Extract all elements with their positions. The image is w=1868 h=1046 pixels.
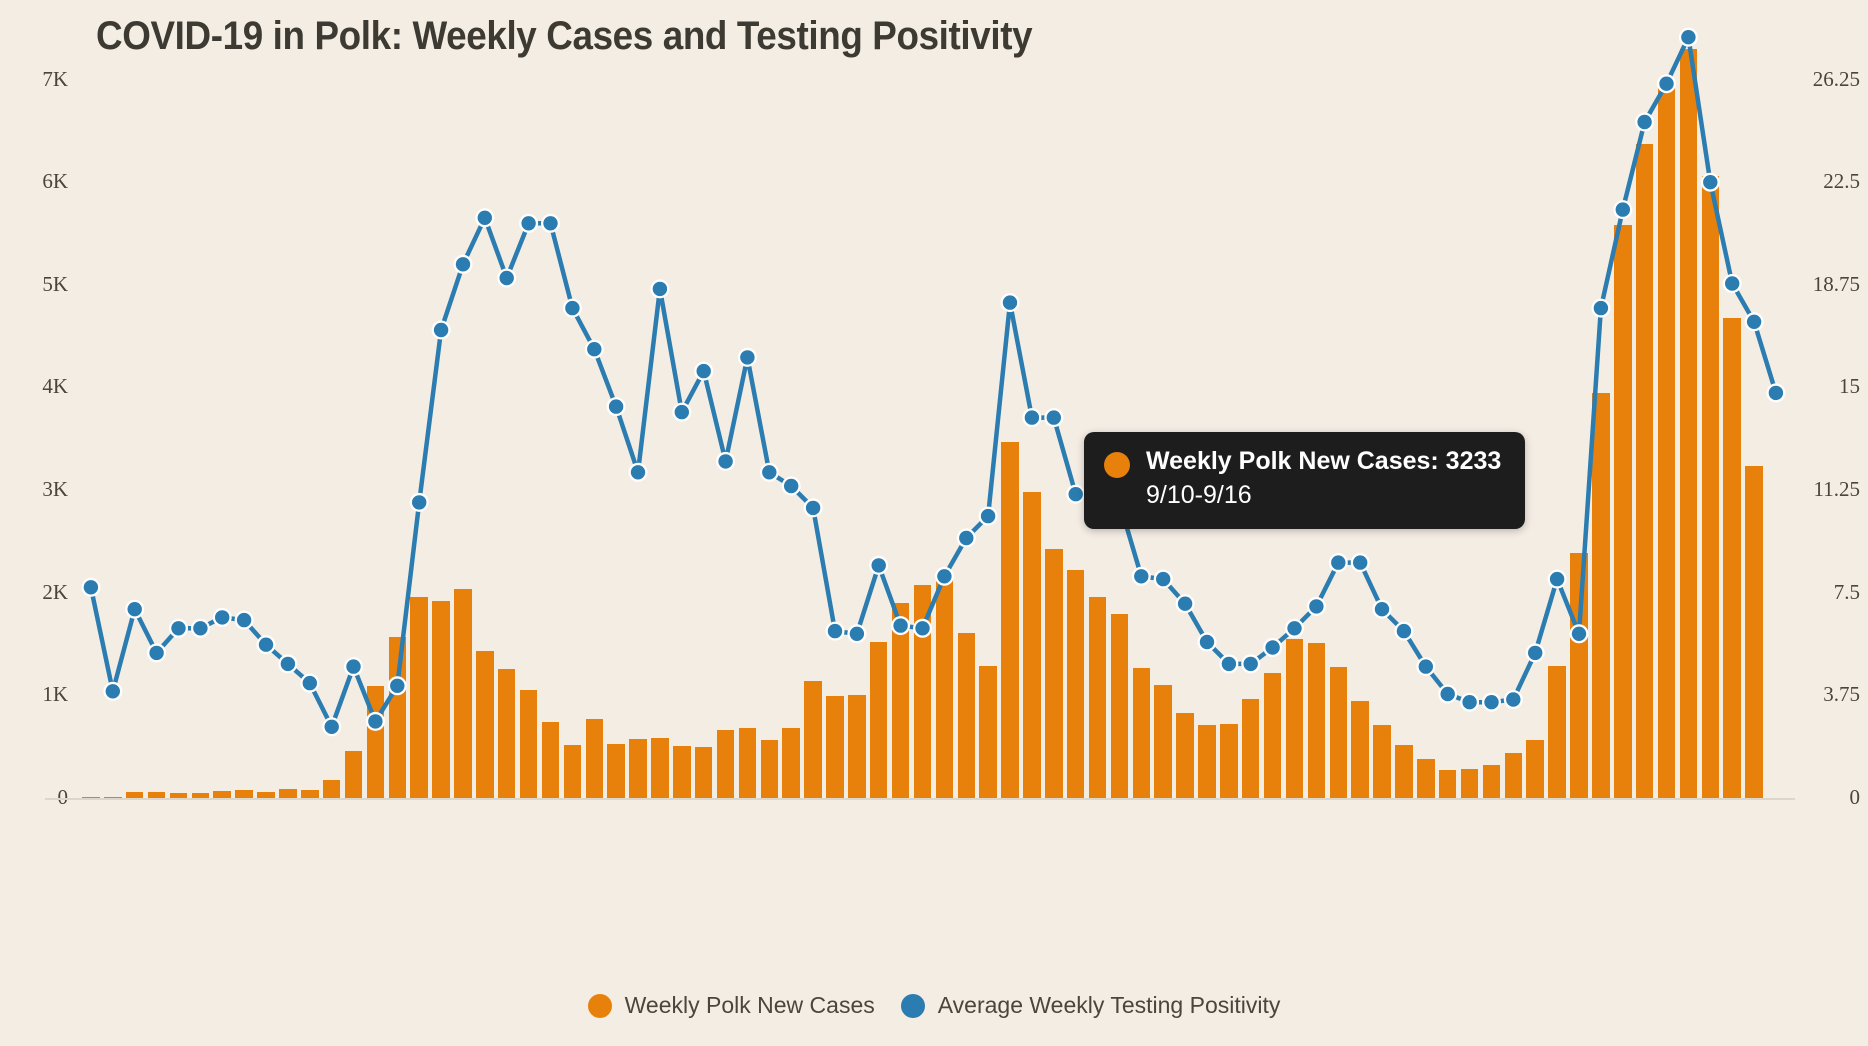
bar[interactable]	[542, 722, 560, 798]
bar[interactable]	[1680, 49, 1698, 798]
bar[interactable]	[476, 651, 494, 798]
bar[interactable]	[1154, 685, 1172, 798]
bar[interactable]	[1133, 668, 1151, 798]
bar[interactable]	[279, 789, 297, 798]
bar[interactable]	[1439, 770, 1457, 798]
bar[interactable]	[301, 790, 319, 798]
bar[interactable]	[914, 585, 932, 798]
bar[interactable]	[345, 751, 363, 798]
bar[interactable]	[782, 728, 800, 798]
bar[interactable]	[761, 740, 779, 798]
legend-label: Weekly Polk New Cases	[625, 992, 875, 1019]
legend-item[interactable]: Average Weekly Testing Positivity	[901, 992, 1281, 1019]
bar[interactable]	[170, 793, 188, 798]
bar[interactable]	[1001, 442, 1019, 798]
bar[interactable]	[564, 745, 582, 798]
bar[interactable]	[673, 746, 691, 798]
bar[interactable]	[213, 791, 231, 798]
bar[interactable]	[826, 696, 844, 798]
bar[interactable]	[651, 738, 669, 798]
bar[interactable]	[804, 681, 822, 798]
bar[interactable]	[1592, 393, 1610, 798]
bar-series-layer	[0, 0, 1868, 798]
bar[interactable]	[367, 686, 385, 798]
legend-label: Average Weekly Testing Positivity	[938, 992, 1281, 1019]
bar[interactable]	[192, 793, 210, 798]
bar[interactable]	[1417, 759, 1435, 798]
bar[interactable]	[82, 797, 100, 798]
bar[interactable]	[235, 790, 253, 798]
bar[interactable]	[936, 580, 954, 798]
chart-legend: Weekly Polk New CasesAverage Weekly Test…	[0, 992, 1868, 1019]
bar[interactable]	[323, 780, 341, 798]
bar[interactable]	[1505, 753, 1523, 798]
bar[interactable]	[410, 597, 428, 798]
bar[interactable]	[892, 603, 910, 798]
bar[interactable]	[1111, 614, 1129, 798]
bar[interactable]	[629, 739, 647, 798]
bar[interactable]	[1373, 725, 1391, 798]
bar[interactable]	[432, 601, 450, 798]
bar[interactable]	[1045, 549, 1063, 798]
bar[interactable]	[1483, 765, 1501, 798]
bar[interactable]	[1067, 570, 1085, 798]
bar[interactable]	[979, 666, 997, 798]
bar[interactable]	[1308, 643, 1326, 798]
bar[interactable]	[1242, 699, 1260, 798]
bar[interactable]	[848, 695, 866, 798]
bar[interactable]	[1745, 466, 1763, 798]
bar[interactable]	[1614, 225, 1632, 798]
bar[interactable]	[1351, 701, 1369, 799]
tooltip-text: Weekly Polk New Cases: 3233 9/10-9/16	[1146, 448, 1501, 511]
bar[interactable]	[739, 728, 757, 798]
bar[interactable]	[1658, 84, 1676, 798]
bar[interactable]	[1198, 725, 1216, 798]
bar[interactable]	[1723, 318, 1741, 798]
bar[interactable]	[1570, 553, 1588, 798]
tooltip-date-range: 9/10-9/16	[1146, 480, 1501, 511]
bar[interactable]	[520, 690, 538, 798]
bar[interactable]	[104, 797, 122, 798]
tooltip-series-label: Weekly Polk New Cases: 3233	[1146, 448, 1501, 476]
bar[interactable]	[607, 744, 625, 798]
bar[interactable]	[389, 637, 407, 798]
legend-swatch-cases-icon	[588, 994, 612, 1018]
bar[interactable]	[1330, 667, 1348, 798]
bar[interactable]	[454, 589, 472, 798]
legend-swatch-positivity-icon	[901, 994, 925, 1018]
bar[interactable]	[148, 792, 166, 798]
bar[interactable]	[1702, 176, 1720, 798]
bar[interactable]	[1526, 740, 1544, 799]
x-axis-baseline	[45, 798, 1795, 800]
bar[interactable]	[717, 730, 735, 798]
bar[interactable]	[1264, 673, 1282, 798]
bar[interactable]	[695, 747, 713, 798]
bar[interactable]	[126, 792, 144, 798]
bar[interactable]	[1286, 639, 1304, 798]
bar[interactable]	[1023, 492, 1041, 798]
legend-item[interactable]: Weekly Polk New Cases	[588, 992, 875, 1019]
bar[interactable]	[498, 669, 516, 798]
bar[interactable]	[586, 719, 604, 798]
bar[interactable]	[1220, 724, 1238, 798]
tooltip: Weekly Polk New Cases: 3233 9/10-9/16	[1084, 432, 1525, 529]
bar[interactable]	[1176, 713, 1194, 798]
bar[interactable]	[1636, 144, 1654, 798]
chart-container: COVID-19 in Polk: Weekly Cases and Testi…	[0, 0, 1868, 1046]
bar[interactable]	[1395, 745, 1413, 798]
bar[interactable]	[1461, 769, 1479, 798]
bar[interactable]	[1548, 666, 1566, 798]
bar[interactable]	[958, 633, 976, 798]
tooltip-series-dot	[1104, 452, 1130, 478]
bar[interactable]	[257, 792, 275, 798]
bar[interactable]	[1089, 597, 1107, 798]
bar[interactable]	[870, 642, 888, 798]
